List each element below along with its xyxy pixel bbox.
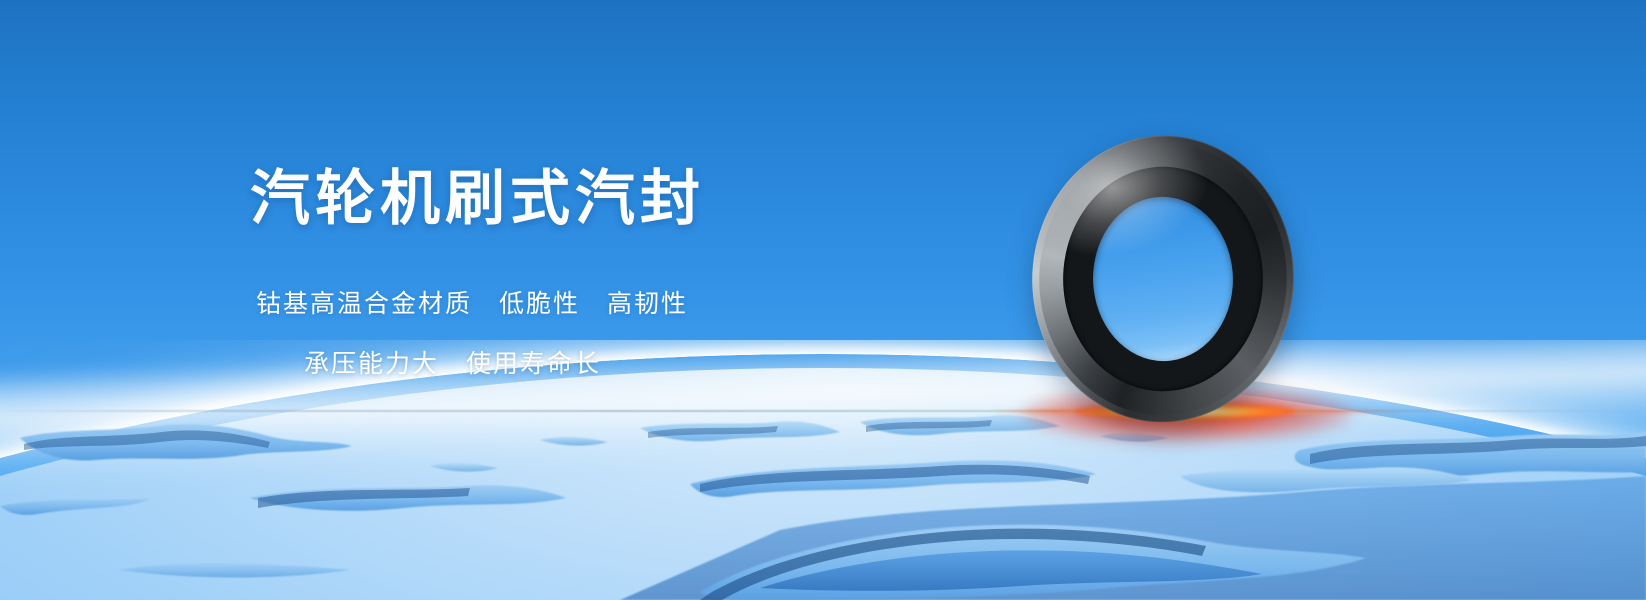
ring-inner-rim (1053, 155, 1273, 402)
ring-outer-band (1019, 121, 1306, 438)
ring-bevel-face (1027, 128, 1299, 429)
product-hero-banner: 汽轮机刷式汽封 钴基高温合金材质 低脆性 高韧性 承压能力大 使用寿命长 (0, 0, 1646, 600)
page-title: 汽轮机刷式汽封 (250, 165, 890, 232)
ring-bore (1086, 189, 1241, 369)
banner-copy: 汽轮机刷式汽封 钴基高温合金材质 低脆性 高韧性 承压能力大 使用寿命长 (250, 165, 890, 380)
subtitle-line-1: 钴基高温合金材质 低脆性 高韧性 (250, 284, 890, 320)
product-ring-image (1032, 136, 1294, 422)
subtitle-line-2: 承压能力大 使用寿命长 (250, 344, 890, 380)
